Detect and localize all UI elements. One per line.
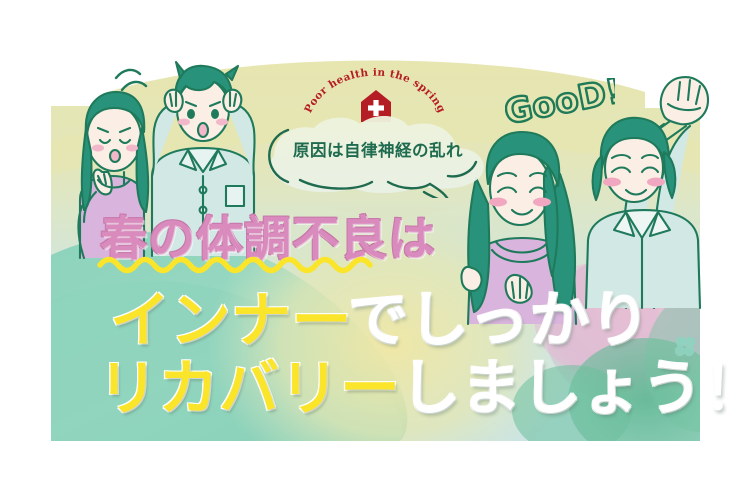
clover-icon bbox=[672, 334, 698, 360]
banner-illustration: Poor health in the spring 原因は自律神経の乱れ Goo… bbox=[0, 0, 751, 501]
good-handwriting-mark: GooD! bbox=[505, 78, 615, 140]
speech-bubble-text: 原因は自律神経の乱れ bbox=[244, 114, 512, 184]
headline-line-3-yellow: リカバリー bbox=[98, 354, 401, 424]
good-mark-text: GooD! bbox=[505, 78, 615, 133]
wavy-underline bbox=[96, 252, 386, 274]
headline-line-3: リカバリーしましょう！ bbox=[98, 340, 751, 427]
headline-line-3-white: しましょう！ bbox=[401, 354, 751, 424]
